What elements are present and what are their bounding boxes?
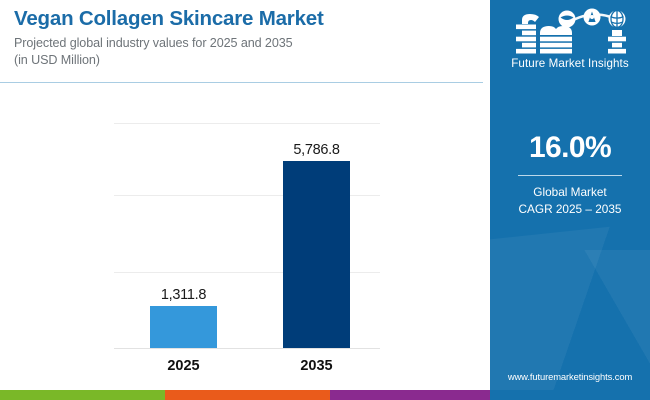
bar-chart-plot: 1,311.8 5,786.8 2025 2035 — [0, 90, 490, 380]
strip-segment-green — [0, 390, 165, 400]
subtitle-line-2: (in USD Million) — [14, 52, 479, 69]
cagr-caption-line-1: Global Market — [490, 184, 650, 201]
header-divider — [0, 82, 483, 83]
strip-segment-orange — [165, 390, 330, 400]
cagr-divider — [518, 175, 622, 176]
gridline-6000 — [114, 123, 380, 124]
cagr-block: 16.0% Global Market CAGR 2025 – 2035 — [490, 130, 650, 218]
bar-value-label-2025: 1,311.8 — [150, 287, 217, 303]
x-axis-label-2025: 2025 — [150, 358, 217, 374]
fmi-logo-tagline: Future Market Insights — [490, 57, 650, 70]
bar-2035[interactable] — [283, 161, 350, 348]
logo-circle-icon-1 — [559, 11, 576, 28]
chart-header: Vegan Collagen Skincare Market Projected… — [14, 6, 479, 69]
website-url[interactable]: www.futuremarketinsights.com — [490, 371, 650, 382]
cagr-value: 16.0% — [490, 130, 650, 166]
cagr-caption: Global Market CAGR 2025 – 2035 — [490, 184, 650, 218]
fmi-wordmark-icon — [500, 8, 640, 56]
subtitle-line-1: Projected global industry values for 202… — [14, 35, 479, 52]
brand-panel: Future Market Insights 16.0% Global Mark… — [490, 0, 650, 400]
bar-value-label-2035: 5,786.8 — [283, 142, 350, 158]
fmi-logo[interactable]: Future Market Insights — [490, 8, 650, 70]
bar-2025[interactable] — [150, 306, 217, 348]
chart-panel: Vegan Collagen Skincare Market Projected… — [0, 0, 490, 400]
logo-globe-icon — [609, 11, 626, 28]
strip-segment-purple — [330, 390, 490, 400]
page-subtitle: Projected global industry values for 202… — [14, 35, 479, 69]
x-axis-label-2035: 2035 — [283, 358, 350, 374]
axis-baseline — [114, 348, 380, 349]
page-title: Vegan Collagen Skincare Market — [14, 6, 479, 32]
infographic-page: Vegan Collagen Skincare Market Projected… — [0, 0, 650, 400]
strip-segment-blue — [490, 390, 650, 400]
cagr-caption-line-2: CAGR 2025 – 2035 — [490, 201, 650, 218]
fmi-logo-mark — [500, 8, 640, 56]
bottom-accent-strip — [0, 390, 650, 400]
logo-circle-icon-2 — [584, 9, 601, 26]
